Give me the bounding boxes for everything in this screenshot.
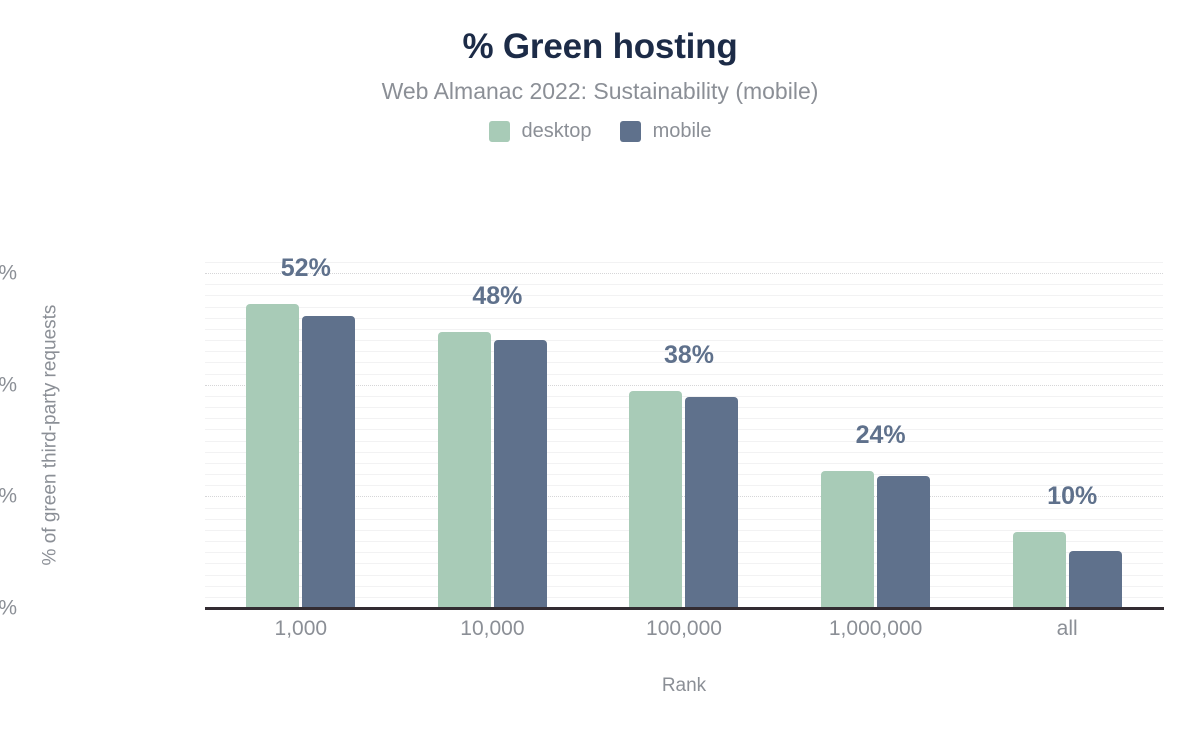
- bar-group: [205, 262, 397, 608]
- gridline-minor: [205, 519, 1163, 520]
- gridline-minor: [205, 586, 1163, 587]
- gridline-minor: [205, 318, 1163, 319]
- x-axis-title: Rank: [205, 676, 1163, 695]
- bar-desktop[interactable]: [438, 332, 491, 608]
- bar-desktop[interactable]: [246, 304, 299, 608]
- legend-label-mobile: mobile: [653, 121, 712, 141]
- bar-desktop[interactable]: [821, 471, 874, 608]
- y-tick-label: 60%: [0, 263, 17, 284]
- bar-mobile[interactable]: [302, 316, 355, 608]
- bar-value-label: 10%: [1047, 484, 1097, 509]
- gridline-minor: [205, 575, 1163, 576]
- x-tick-label: 10,000: [460, 618, 524, 639]
- y-tick-label: 0%: [0, 598, 17, 619]
- gridline-minor: [205, 463, 1163, 464]
- x-tick-label: 100,000: [646, 618, 722, 639]
- gridline-minor: [205, 429, 1163, 430]
- gridline-minor: [205, 374, 1163, 375]
- gridline-minor: [205, 485, 1163, 486]
- chart-legend: desktop mobile: [0, 121, 1200, 142]
- bar-value-label: 24%: [856, 423, 906, 448]
- gridline-major: [205, 273, 1163, 274]
- bar-mobile[interactable]: [1069, 551, 1122, 608]
- bar-mobile[interactable]: [494, 340, 547, 608]
- x-tick-label: 1,000: [275, 618, 328, 639]
- bar-value-label: 48%: [472, 284, 522, 309]
- y-axis-title: % of green third-party requests: [41, 275, 60, 595]
- gridline-minor: [205, 563, 1163, 564]
- gridline-major: [205, 385, 1163, 386]
- gridline-minor: [205, 452, 1163, 453]
- legend-swatch-desktop: [489, 121, 510, 142]
- gridline-major: [205, 496, 1163, 497]
- bar-mobile[interactable]: [685, 397, 738, 608]
- gridline-minor: [205, 362, 1163, 363]
- chart-subtitle: Web Almanac 2022: Sustainability (mobile…: [0, 79, 1200, 104]
- bar-value-label: 38%: [664, 343, 714, 368]
- gridline-minor: [205, 552, 1163, 553]
- legend-label-desktop: desktop: [522, 121, 592, 141]
- y-tick-label: 20%: [0, 486, 17, 507]
- gridline-minor: [205, 351, 1163, 352]
- gridline-minor: [205, 407, 1163, 408]
- bar-desktop[interactable]: [1013, 532, 1066, 608]
- gridline-minor: [205, 329, 1163, 330]
- bar-desktop[interactable]: [629, 391, 682, 608]
- gridline-minor: [205, 541, 1163, 542]
- bar-group: [397, 262, 589, 608]
- y-axis-title-holder: % of green third-party requests: [30, 262, 70, 608]
- bar-mobile[interactable]: [877, 476, 930, 608]
- gridline-minor: [205, 340, 1163, 341]
- legend-item-desktop[interactable]: desktop: [489, 121, 592, 142]
- bar-value-label: 52%: [281, 256, 331, 281]
- plot-area: [205, 262, 1163, 608]
- legend-swatch-mobile: [620, 121, 641, 142]
- y-tick-label: 40%: [0, 374, 17, 395]
- gridline-minor: [205, 474, 1163, 475]
- gridline-minor: [205, 530, 1163, 531]
- gridline-minor: [205, 597, 1163, 598]
- gridline-minor: [205, 307, 1163, 308]
- gridline-minor: [205, 441, 1163, 442]
- page-title: % Green hosting: [0, 28, 1200, 67]
- gridline-minor: [205, 396, 1163, 397]
- gridline-minor: [205, 418, 1163, 419]
- gridline-minor: [205, 295, 1163, 296]
- x-tick-label: 1,000,000: [829, 618, 922, 639]
- bar-group: [780, 262, 972, 608]
- bar-group: [588, 262, 780, 608]
- gridline-minor: [205, 284, 1163, 285]
- bar-group: [971, 262, 1163, 608]
- x-tick-label: all: [1057, 618, 1078, 639]
- gridline-minor: [205, 262, 1163, 263]
- gridline-minor: [205, 508, 1163, 509]
- legend-item-mobile[interactable]: mobile: [620, 121, 712, 142]
- x-axis-line: [205, 607, 1164, 610]
- chart-header: % Green hosting Web Almanac 2022: Sustai…: [0, 0, 1200, 142]
